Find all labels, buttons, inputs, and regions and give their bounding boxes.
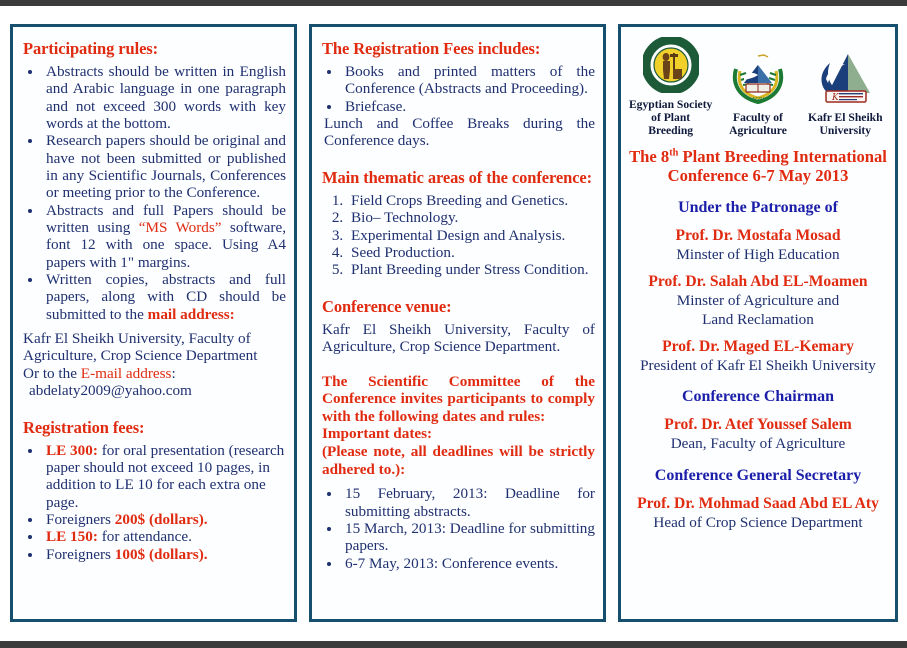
list-item: 6-7 May, 2013: Conference events. [342, 555, 595, 572]
patronage-label: Under the Patronage of [621, 199, 895, 217]
scientific-committee-note: The Scientific Committee of the Conferen… [322, 373, 595, 426]
list-item: Foreigners 100$ (dollars). [43, 546, 286, 563]
list-item: Written copies, abstracts and full paper… [43, 271, 286, 323]
heading-registration-fees: Registration fees: [23, 418, 286, 438]
postal-address-line-1: Kafr El Sheikh University, Faculty of [23, 330, 286, 347]
patron-name: Prof. Dr. Maged EL-Kemary [621, 338, 895, 356]
secretary-name: Prof. Dr. Mohmad Saad Abd EL Aty [621, 495, 895, 513]
important-dates-list: 15 February, 2013: Deadline for submitti… [320, 485, 595, 572]
ordinal-suffix: th [669, 147, 678, 158]
postal-address-line-2: Agriculture, Crop Science Department [23, 347, 286, 364]
list-item: Seed Production. [347, 244, 595, 261]
heading-registration-includes: The Registration Fees includes: [322, 39, 595, 59]
chairman-role: Dean, Faculty of Agriculture [621, 435, 895, 452]
fee-amount: LE 300: [46, 442, 98, 459]
list-item: Plant Breeding under Stress Condition. [347, 261, 595, 278]
panel-participating-rules: Participating rules: Abstracts should be… [10, 24, 297, 622]
svg-text:K: K [831, 93, 840, 103]
faculty-of-agriculture-icon: AGRI [715, 48, 801, 108]
logo-cell-egyptian-society: Egyptian Society of Plant Breeding [628, 35, 714, 137]
lunch-coffee-note: Lunch and Coffee Breaks during the Confe… [324, 115, 595, 150]
logo-row: Egyptian Society of Plant Breeding [621, 27, 895, 137]
logo-caption: Faculty of Agriculture [715, 111, 801, 137]
email-colon: : [171, 365, 175, 382]
registration-fees-list: LE 300: for oral presentation (research … [21, 442, 286, 563]
list-item: Experimental Design and Analysis. [347, 227, 595, 244]
list-item: Research papers should be original and h… [43, 132, 286, 201]
panel-registration-details: The Registration Fees includes: Books an… [309, 24, 606, 622]
fee-amount: LE 150: [46, 528, 98, 545]
list-item: Abstracts and full Papers should be writ… [43, 202, 286, 271]
list-item: Abstracts should be written in English a… [43, 63, 286, 132]
fee-description: Foreigners [46, 511, 115, 528]
patron-role: President of Kafr El Sheikh University [621, 357, 895, 374]
bottom-border-strip [0, 641, 907, 648]
fee-amount: 200$ (dollars). [115, 511, 208, 528]
email-address-value[interactable]: abdelaty2009@yahoo.com [29, 382, 286, 399]
email-prefix: Or to the [23, 365, 81, 382]
conference-venue-text: Kafr El Sheikh University, Faculty of Ag… [322, 321, 595, 356]
rule-ms-words-highlight: “MS Words” [139, 219, 222, 236]
heading-thematic-areas: Main thematic areas of the conference: [322, 168, 595, 188]
egyptian-society-of-plant-breeding-icon [628, 35, 714, 95]
logo-caption: Egyptian Society of Plant Breeding [628, 98, 714, 137]
list-item: 15 February, 2013: Deadline for submitti… [342, 485, 595, 520]
list-item: Foreigners 200$ (dollars). [43, 511, 286, 528]
patron-role: Minster of High Education [621, 246, 895, 263]
logo-cell-kafr-el-sheikh-university: K Kafr El Sheikh University [802, 48, 888, 137]
fee-description: for attendance. [98, 528, 192, 545]
logo-caption: Kafr El Sheikh University [802, 111, 888, 137]
list-item: LE 300: for oral presentation (research … [43, 442, 286, 511]
chairman-label: Conference Chairman [621, 388, 895, 406]
heading-participating-rules: Participating rules: [23, 39, 286, 59]
list-item: Briefcase. [342, 98, 595, 115]
list-item: 15 March, 2013: Deadline for submitting … [342, 520, 595, 555]
kafr-el-sheikh-university-icon: K [802, 48, 888, 108]
brochure-page: Participating rules: Abstracts should be… [0, 0, 907, 648]
list-item: Bio– Technology. [347, 209, 595, 226]
patron-name: Prof. Dr. Salah Abd EL-Moamen [621, 273, 895, 291]
svg-text:AGRI: AGRI [752, 97, 764, 103]
deadline-strict-note: (Please note, all deadlines will be stri… [322, 443, 595, 478]
list-item: Field Crops Breeding and Genetics. [347, 192, 595, 209]
patron-role-line-2: Land Reclamation [621, 311, 895, 328]
conference-title-line-2: Conference 6-7 May 2013 [625, 166, 891, 185]
email-address-line: Or to the E-mail address: [23, 365, 286, 382]
fee-amount: 100$ (dollars). [115, 546, 208, 563]
list-item: LE 150: for attendance. [43, 528, 286, 545]
secretary-role: Head of Crop Science Department [621, 514, 895, 531]
mail-address-label: mail address: [148, 306, 235, 323]
thematic-areas-list: Field Crops Breeding and Genetics. Bio– … [320, 192, 595, 279]
panel-conference-info: Egyptian Society of Plant Breeding [618, 24, 898, 622]
important-dates-label: Important dates: [322, 425, 595, 443]
secretary-label: Conference General Secretary [621, 467, 895, 485]
patron-role: Minster of Agriculture and [621, 292, 895, 309]
conference-title: The 8th Plant Breeding International Con… [625, 147, 891, 185]
patron-name: Prof. Dr. Mostafa Mosad [621, 227, 895, 245]
top-border-strip [0, 0, 907, 6]
logo-cell-faculty-of-agriculture: AGRI Faculty of Agriculture [715, 48, 801, 137]
list-item: Books and printed matters of the Confere… [342, 63, 595, 98]
email-address-label: E-mail address [81, 365, 172, 382]
registration-includes-list: Books and printed matters of the Confere… [320, 63, 595, 115]
chairman-name: Prof. Dr. Atef Youssef Salem [621, 416, 895, 434]
heading-conference-venue: Conference venue: [322, 297, 595, 317]
fee-description: Foreigners [46, 546, 115, 563]
participating-rules-list: Abstracts should be written in English a… [21, 63, 286, 323]
